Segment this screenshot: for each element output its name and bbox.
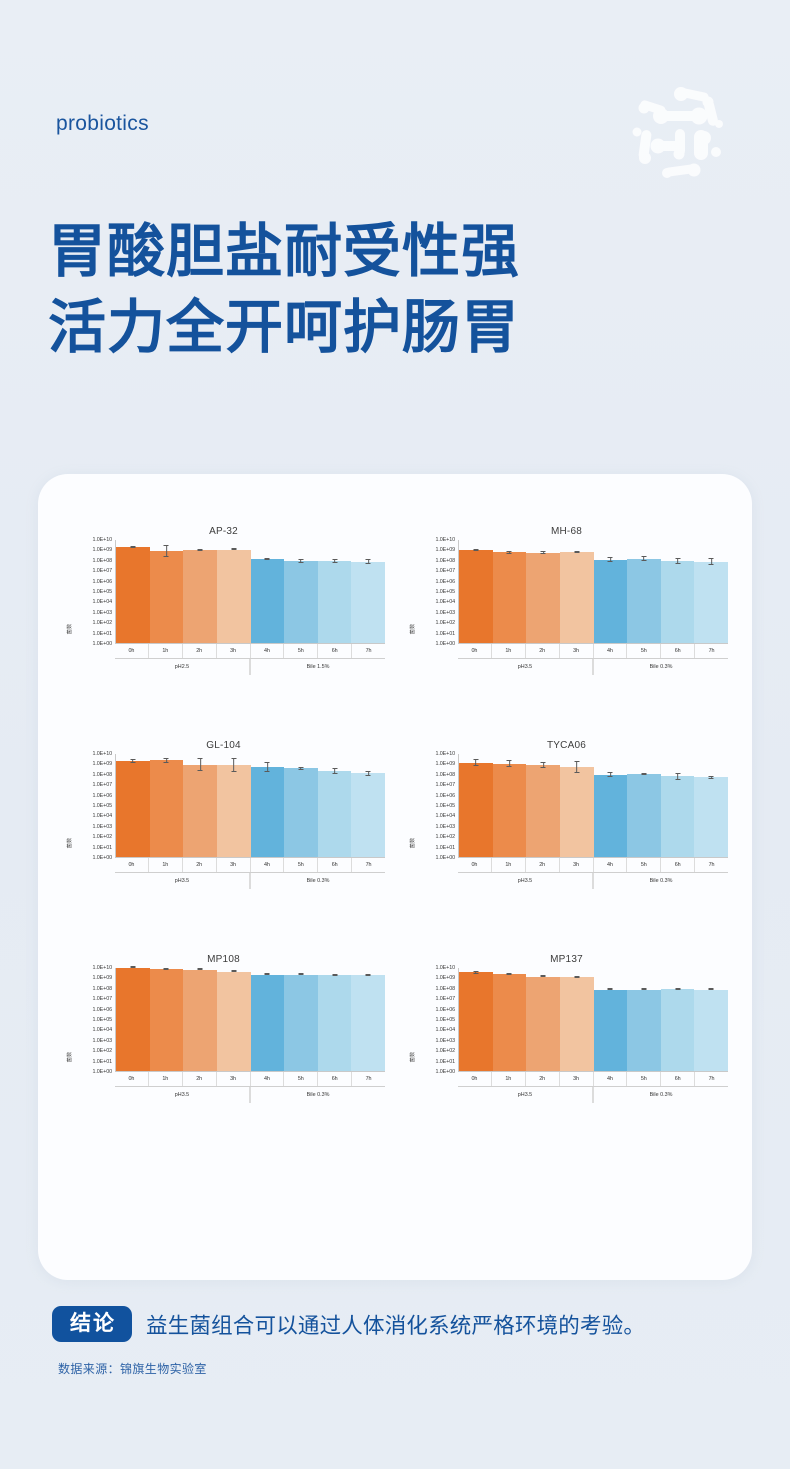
x-tick-label: 5h (284, 1072, 318, 1086)
x-tick-label: 1h (149, 858, 183, 872)
x-group-label: pH3.5 (115, 1087, 250, 1103)
y-tick-label: 1.0E+06 (92, 793, 112, 799)
y-tick-label: 1.0E+02 (92, 834, 112, 840)
chart-title: TYCA06 (395, 740, 738, 751)
y-tick-label: 1.0E+02 (92, 1048, 112, 1054)
y-tick-label: 1.0E+10 (92, 965, 112, 971)
x-axis-tick-labels: 0h1h2h3h4h5h6h7h (115, 858, 385, 873)
error-bar (164, 968, 169, 970)
x-tick-label: 7h (695, 1072, 728, 1086)
x-axis-group-labels: pH3.5Bile 0.3% (458, 1087, 728, 1103)
x-group-label: pH2.5 (115, 659, 250, 675)
bar (183, 550, 217, 643)
bar-slot (284, 540, 318, 643)
error-bar (574, 976, 579, 978)
x-tick-label: 1h (492, 644, 526, 658)
chart-title: MH-68 (395, 526, 738, 537)
error-bar (675, 988, 680, 990)
bar (526, 977, 560, 1071)
plot-area: 菌数1.0E+101.0E+091.0E+081.0E+071.0E+061.0… (409, 540, 730, 718)
y-tick-label: 1.0E+01 (435, 845, 455, 851)
error-bar (608, 772, 613, 777)
x-tick-label: 2h (526, 1072, 560, 1086)
y-tick-label: 1.0E+06 (435, 1007, 455, 1013)
bar (251, 559, 285, 643)
error-bar (130, 966, 135, 968)
bar-slot (183, 754, 217, 857)
y-tick-label: 1.0E+08 (92, 772, 112, 778)
chart-title: AP-32 (52, 526, 395, 537)
x-group-label: Bile 0.3% (593, 873, 728, 889)
chart-title: MP137 (395, 954, 738, 965)
x-axis-group-labels: pH3.5Bile 0.3% (458, 659, 728, 675)
y-axis-title: 菌数 (409, 838, 416, 849)
y-tick-label: 1.0E+03 (435, 1038, 455, 1044)
x-tick-label: 1h (492, 858, 526, 872)
bar (661, 989, 695, 1071)
x-tick-label: 2h (526, 858, 560, 872)
bar (560, 977, 594, 1071)
bar (661, 561, 695, 643)
error-bar (641, 773, 646, 775)
charts-grid: AP-32菌数1.0E+101.0E+091.0E+081.0E+071.0E+… (38, 474, 752, 1280)
error-bar (332, 768, 337, 774)
chart-ap-32: AP-32菌数1.0E+101.0E+091.0E+081.0E+071.0E+… (52, 522, 395, 732)
headline-line-2: 活力全开呵护肠胃 (48, 290, 520, 366)
y-tick-label: 1.0E+03 (435, 824, 455, 830)
bar (459, 972, 493, 1071)
x-tick-label: 0h (115, 644, 149, 658)
y-tick-label: 1.0E+02 (435, 1048, 455, 1054)
bar-slot (694, 540, 728, 643)
error-bar (265, 558, 270, 560)
error-bar (130, 546, 135, 548)
y-tick-label: 1.0E+03 (435, 610, 455, 616)
bar-slot (351, 754, 385, 857)
x-tick-label: 1h (149, 1072, 183, 1086)
y-tick-label: 1.0E+03 (92, 824, 112, 830)
error-bar (473, 971, 478, 974)
plot-area: 菌数1.0E+101.0E+091.0E+081.0E+071.0E+061.0… (66, 968, 387, 1146)
bar-slot (351, 540, 385, 643)
y-tick-label: 1.0E+05 (435, 589, 455, 595)
bar-slot (251, 754, 285, 857)
y-tick-label: 1.0E+10 (92, 751, 112, 757)
y-tick-label: 1.0E+01 (92, 631, 112, 637)
error-bar (332, 559, 337, 563)
x-tick-label: 7h (695, 858, 728, 872)
x-group-label: Bile 0.3% (250, 1087, 385, 1103)
plot-canvas (458, 968, 728, 1072)
y-tick-label: 1.0E+09 (92, 975, 112, 981)
data-source-note: 数据来源：锦旗生物实验室 (58, 1360, 207, 1377)
bar (150, 760, 184, 857)
x-tick-label: 6h (661, 858, 695, 872)
error-bar (608, 557, 613, 562)
y-tick-label: 1.0E+05 (435, 1017, 455, 1023)
y-axis-tick-labels: 1.0E+101.0E+091.0E+081.0E+071.0E+061.0E+… (74, 754, 114, 858)
x-tick-label: 6h (318, 644, 352, 658)
error-bar (675, 558, 680, 564)
chart-mp108: MP108菌数1.0E+101.0E+091.0E+081.0E+071.0E+… (52, 950, 395, 1160)
bar (459, 763, 493, 858)
plot-area: 菌数1.0E+101.0E+091.0E+081.0E+071.0E+061.0… (66, 754, 387, 932)
y-tick-label: 1.0E+10 (435, 537, 455, 543)
x-tick-label: 5h (284, 644, 318, 658)
y-tick-label: 1.0E+10 (435, 965, 455, 971)
bar-slot (116, 540, 150, 643)
y-tick-label: 1.0E+00 (92, 641, 112, 647)
bar-slot (351, 968, 385, 1071)
error-bar (130, 759, 135, 764)
y-tick-label: 1.0E+05 (92, 589, 112, 595)
x-group-label: pH3.5 (458, 1087, 593, 1103)
error-bar (298, 973, 303, 975)
error-bar (473, 759, 478, 765)
x-tick-label: 7h (352, 644, 385, 658)
y-tick-label: 1.0E+07 (435, 782, 455, 788)
bar (351, 975, 385, 1071)
error-bar (231, 758, 236, 772)
bar (627, 774, 661, 857)
x-tick-label: 4h (594, 644, 628, 658)
bar-series (459, 540, 728, 643)
x-tick-label: 4h (251, 644, 285, 658)
bar-slot (526, 754, 560, 857)
x-group-label: Bile 0.3% (250, 873, 385, 889)
bar-slot (459, 968, 493, 1071)
y-tick-label: 1.0E+09 (435, 761, 455, 767)
y-tick-label: 1.0E+08 (435, 558, 455, 564)
x-tick-label: 4h (251, 858, 285, 872)
y-tick-label: 1.0E+04 (92, 599, 112, 605)
bar (627, 990, 661, 1071)
y-tick-label: 1.0E+04 (435, 813, 455, 819)
y-tick-label: 1.0E+04 (435, 599, 455, 605)
plot-canvas (115, 754, 385, 858)
x-axis-group-labels: pH3.5Bile 0.3% (115, 1087, 385, 1103)
x-tick-label: 6h (318, 1072, 352, 1086)
bar (217, 765, 251, 857)
bar-slot (594, 540, 628, 643)
y-tick-label: 1.0E+02 (435, 620, 455, 626)
error-bar (608, 988, 613, 990)
x-group-label: Bile 1.5% (250, 659, 385, 675)
x-tick-label: 5h (627, 858, 661, 872)
bar-slot (284, 968, 318, 1071)
x-tick-label: 3h (217, 644, 251, 658)
bar-slot (493, 754, 527, 857)
x-group-label: pH3.5 (458, 873, 593, 889)
x-axis-tick-labels: 0h1h2h3h4h5h6h7h (115, 644, 385, 659)
y-tick-label: 1.0E+03 (92, 610, 112, 616)
page-root: probiotics (0, 0, 790, 1469)
bar-slot (217, 540, 251, 643)
x-tick-label: 6h (661, 1072, 695, 1086)
error-bar (641, 556, 646, 561)
x-tick-label: 4h (594, 1072, 628, 1086)
y-tick-label: 1.0E+01 (435, 1059, 455, 1065)
bar (318, 561, 352, 643)
chart-title: GL-104 (52, 740, 395, 751)
y-axis-title: 菌数 (409, 624, 416, 635)
y-tick-label: 1.0E+08 (435, 986, 455, 992)
bar (459, 550, 493, 643)
y-tick-label: 1.0E+04 (92, 813, 112, 819)
bar-slot (560, 968, 594, 1071)
error-bar (298, 767, 303, 770)
bar (217, 550, 251, 643)
bar (318, 975, 352, 1071)
x-axis-tick-labels: 0h1h2h3h4h5h6h7h (115, 1072, 385, 1087)
error-bar (366, 974, 371, 976)
bar (594, 560, 628, 643)
error-bar (709, 988, 714, 990)
x-tick-label: 0h (458, 858, 492, 872)
bar-slot (150, 754, 184, 857)
x-axis-tick-labels: 0h1h2h3h4h5h6h7h (458, 644, 728, 659)
bar (150, 969, 184, 1071)
error-bar (298, 559, 303, 563)
y-axis-title: 菌数 (66, 624, 73, 635)
bar-slot (459, 540, 493, 643)
bar-slot (560, 540, 594, 643)
bar-slot (627, 754, 661, 857)
y-tick-label: 1.0E+08 (435, 772, 455, 778)
bar (493, 764, 527, 857)
y-axis-tick-labels: 1.0E+101.0E+091.0E+081.0E+071.0E+061.0E+… (74, 540, 114, 644)
bar-slot (694, 968, 728, 1071)
y-tick-label: 1.0E+05 (92, 803, 112, 809)
bar (251, 975, 285, 1071)
charts-card: AP-32菌数1.0E+101.0E+091.0E+081.0E+071.0E+… (38, 474, 752, 1280)
bar (318, 771, 352, 857)
bar-series (116, 540, 385, 643)
error-bar (198, 968, 203, 970)
error-bar (198, 758, 203, 771)
error-bar (541, 551, 546, 554)
conclusion-badge: 结论 (52, 1306, 132, 1342)
page-title: 胃酸胆盐耐受性强 活力全开呵护肠胃 (48, 214, 520, 366)
x-tick-label: 5h (627, 1072, 661, 1086)
x-tick-label: 3h (560, 644, 594, 658)
bar (594, 990, 628, 1071)
bar-slot (594, 968, 628, 1071)
plot-area: 菌数1.0E+101.0E+091.0E+081.0E+071.0E+061.0… (409, 968, 730, 1146)
bar-series (116, 754, 385, 857)
error-bar (265, 973, 270, 975)
plot-area: 菌数1.0E+101.0E+091.0E+081.0E+071.0E+061.0… (66, 540, 387, 718)
bar-slot (526, 968, 560, 1071)
bacteria-cluster-icon (620, 72, 742, 194)
error-bar (473, 549, 478, 551)
headline-line-1: 胃酸胆盐耐受性强 (48, 219, 520, 284)
bar-slot (661, 540, 695, 643)
bar (183, 970, 217, 1071)
plot-canvas (458, 754, 728, 858)
bar (116, 761, 150, 857)
x-axis-tick-labels: 0h1h2h3h4h5h6h7h (458, 858, 728, 873)
error-bar (231, 548, 236, 550)
error-bar (541, 762, 546, 769)
x-tick-label: 7h (352, 858, 385, 872)
plot-area: 菌数1.0E+101.0E+091.0E+081.0E+071.0E+061.0… (409, 754, 730, 932)
bar (284, 975, 318, 1071)
bar (694, 777, 728, 857)
x-axis-group-labels: pH3.5Bile 0.3% (458, 873, 728, 889)
y-tick-label: 1.0E+06 (92, 1007, 112, 1013)
bar-slot (183, 968, 217, 1071)
x-tick-label: 1h (149, 644, 183, 658)
y-tick-label: 1.0E+02 (92, 620, 112, 626)
x-tick-label: 3h (217, 1072, 251, 1086)
bar (493, 552, 527, 643)
y-tick-label: 1.0E+05 (92, 1017, 112, 1023)
brand-wordmark: probiotics (56, 112, 149, 136)
x-tick-label: 4h (594, 858, 628, 872)
error-bar (164, 545, 169, 556)
y-tick-label: 1.0E+05 (435, 803, 455, 809)
error-bar (366, 559, 371, 564)
y-tick-label: 1.0E+04 (435, 1027, 455, 1033)
error-bar (507, 760, 512, 767)
x-axis-tick-labels: 0h1h2h3h4h5h6h7h (458, 1072, 728, 1087)
bar (116, 968, 150, 1071)
y-axis-title: 菌数 (66, 838, 73, 849)
x-tick-label: 6h (318, 858, 352, 872)
x-tick-label: 3h (217, 858, 251, 872)
plot-canvas (458, 540, 728, 644)
y-tick-label: 1.0E+07 (92, 568, 112, 574)
bar-slot (217, 968, 251, 1071)
y-tick-label: 1.0E+07 (92, 782, 112, 788)
y-tick-label: 1.0E+07 (435, 996, 455, 1002)
error-bar (709, 558, 714, 565)
bar (284, 561, 318, 643)
bar (694, 562, 728, 643)
bar-slot (661, 968, 695, 1071)
y-tick-label: 1.0E+07 (92, 996, 112, 1002)
bar (251, 767, 285, 857)
bar-slot (594, 754, 628, 857)
chart-gl-104: GL-104菌数1.0E+101.0E+091.0E+081.0E+071.0E… (52, 736, 395, 946)
y-axis-tick-labels: 1.0E+101.0E+091.0E+081.0E+071.0E+061.0E+… (417, 540, 457, 644)
bar-slot (318, 754, 352, 857)
bar (217, 972, 251, 1071)
error-bar (709, 776, 714, 779)
x-tick-label: 7h (352, 1072, 385, 1086)
error-bar (641, 988, 646, 990)
bar-slot (661, 754, 695, 857)
bar (526, 765, 560, 857)
plot-canvas (115, 968, 385, 1072)
error-bar (231, 970, 236, 972)
y-tick-label: 1.0E+03 (92, 1038, 112, 1044)
conclusion-block: 结论 益生菌组合可以通过人体消化系统严格环境的考验。 (52, 1306, 645, 1342)
y-axis-title: 菌数 (66, 1052, 73, 1063)
bar (351, 562, 385, 643)
bar (284, 768, 318, 857)
bar-slot (251, 540, 285, 643)
y-tick-label: 1.0E+06 (435, 793, 455, 799)
conclusion-text: 益生菌组合可以通过人体消化系统严格环境的考验。 (146, 1309, 645, 1340)
bar-slot (560, 754, 594, 857)
bar-slot (150, 968, 184, 1071)
bar (116, 547, 150, 643)
x-tick-label: 2h (526, 644, 560, 658)
y-tick-label: 1.0E+01 (92, 1059, 112, 1065)
error-bar (507, 551, 512, 554)
error-bar (164, 758, 169, 763)
error-bar (507, 973, 512, 975)
bar (627, 559, 661, 644)
x-tick-label: 6h (661, 644, 695, 658)
bar (560, 767, 594, 857)
bar-slot (183, 540, 217, 643)
bar-slot (459, 754, 493, 857)
bar-slot (318, 540, 352, 643)
y-tick-label: 1.0E+02 (435, 834, 455, 840)
bar (351, 773, 385, 857)
bar-slot (627, 968, 661, 1071)
y-tick-label: 1.0E+08 (92, 558, 112, 564)
y-tick-label: 1.0E+00 (435, 641, 455, 647)
bar-series (459, 968, 728, 1071)
x-axis-group-labels: pH3.5Bile 0.3% (115, 873, 385, 889)
y-tick-label: 1.0E+00 (435, 1069, 455, 1075)
plot-canvas (115, 540, 385, 644)
x-tick-label: 0h (458, 644, 492, 658)
bar-slot (217, 754, 251, 857)
bar (150, 551, 184, 643)
bar (183, 765, 217, 857)
x-group-label: Bile 0.3% (593, 659, 728, 675)
bar-slot (116, 754, 150, 857)
bar-series (116, 968, 385, 1071)
y-tick-label: 1.0E+10 (435, 751, 455, 757)
x-tick-label: 3h (560, 1072, 594, 1086)
bar (493, 974, 527, 1071)
x-tick-label: 0h (458, 1072, 492, 1086)
bar-slot (251, 968, 285, 1071)
bar-slot (493, 540, 527, 643)
error-bar (574, 551, 579, 553)
y-tick-label: 1.0E+04 (92, 1027, 112, 1033)
x-group-label: pH3.5 (458, 659, 593, 675)
y-axis-tick-labels: 1.0E+101.0E+091.0E+081.0E+071.0E+061.0E+… (74, 968, 114, 1072)
y-tick-label: 1.0E+06 (92, 579, 112, 585)
chart-mh-68: MH-68菌数1.0E+101.0E+091.0E+081.0E+071.0E+… (395, 522, 738, 732)
x-tick-label: 2h (183, 1072, 217, 1086)
bar-slot (694, 754, 728, 857)
error-bar (574, 761, 579, 774)
bar (694, 990, 728, 1071)
x-tick-label: 7h (695, 644, 728, 658)
y-axis-tick-labels: 1.0E+101.0E+091.0E+081.0E+071.0E+061.0E+… (417, 968, 457, 1072)
bar-slot (627, 540, 661, 643)
y-tick-label: 1.0E+08 (92, 986, 112, 992)
y-axis-title: 菌数 (409, 1052, 416, 1063)
y-tick-label: 1.0E+00 (92, 1069, 112, 1075)
bar-slot (284, 754, 318, 857)
bar-slot (116, 968, 150, 1071)
y-tick-label: 1.0E+06 (435, 579, 455, 585)
y-tick-label: 1.0E+01 (92, 845, 112, 851)
bar (526, 553, 560, 643)
bar-slot (318, 968, 352, 1071)
bar (594, 775, 628, 857)
y-tick-label: 1.0E+00 (92, 855, 112, 861)
